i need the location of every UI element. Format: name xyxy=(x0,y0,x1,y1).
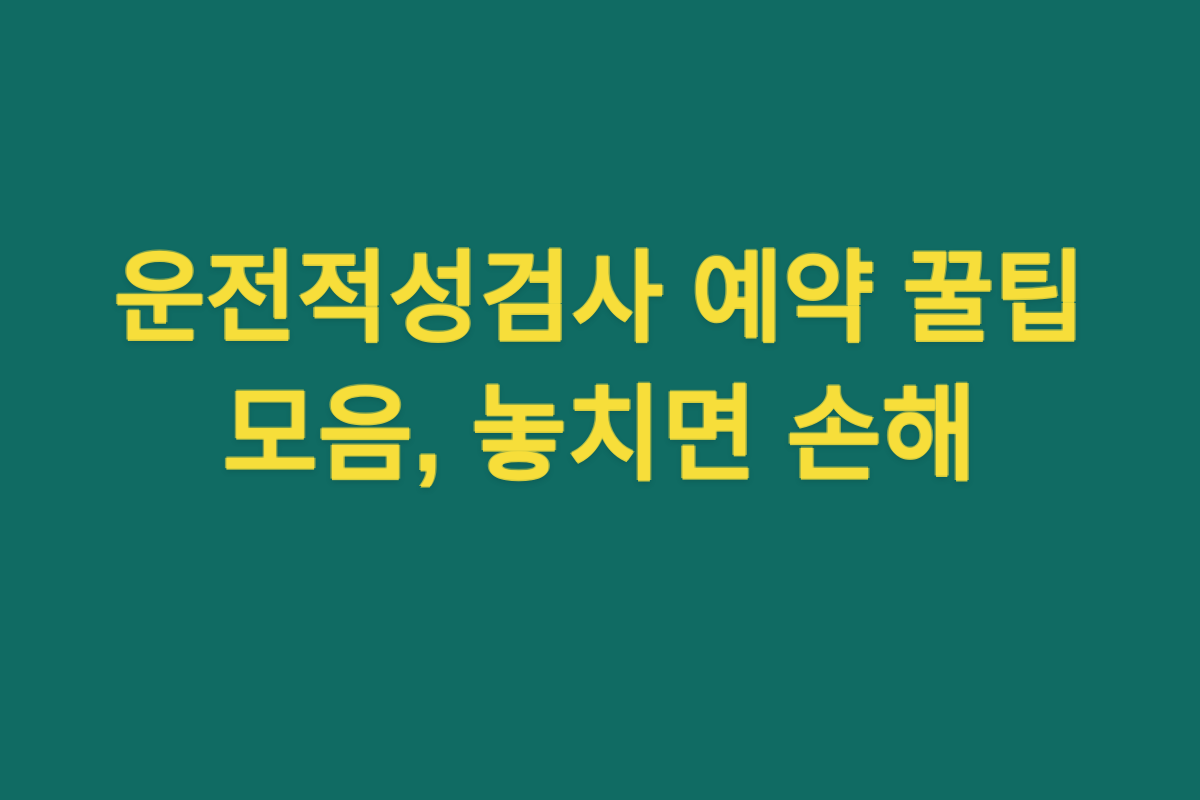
thumbnail-banner: 운전적성검사 예약 꿀팁 모음, 놓치면 손해 xyxy=(0,0,1200,800)
headline-text-block: 운전적성검사 예약 꿀팁 모음, 놓치면 손해 xyxy=(0,231,1200,506)
headline-line-2: 모음, 놓치면 손해 xyxy=(223,365,977,505)
headline-line-1: 운전적성검사 예약 꿀팁 xyxy=(114,231,1086,366)
